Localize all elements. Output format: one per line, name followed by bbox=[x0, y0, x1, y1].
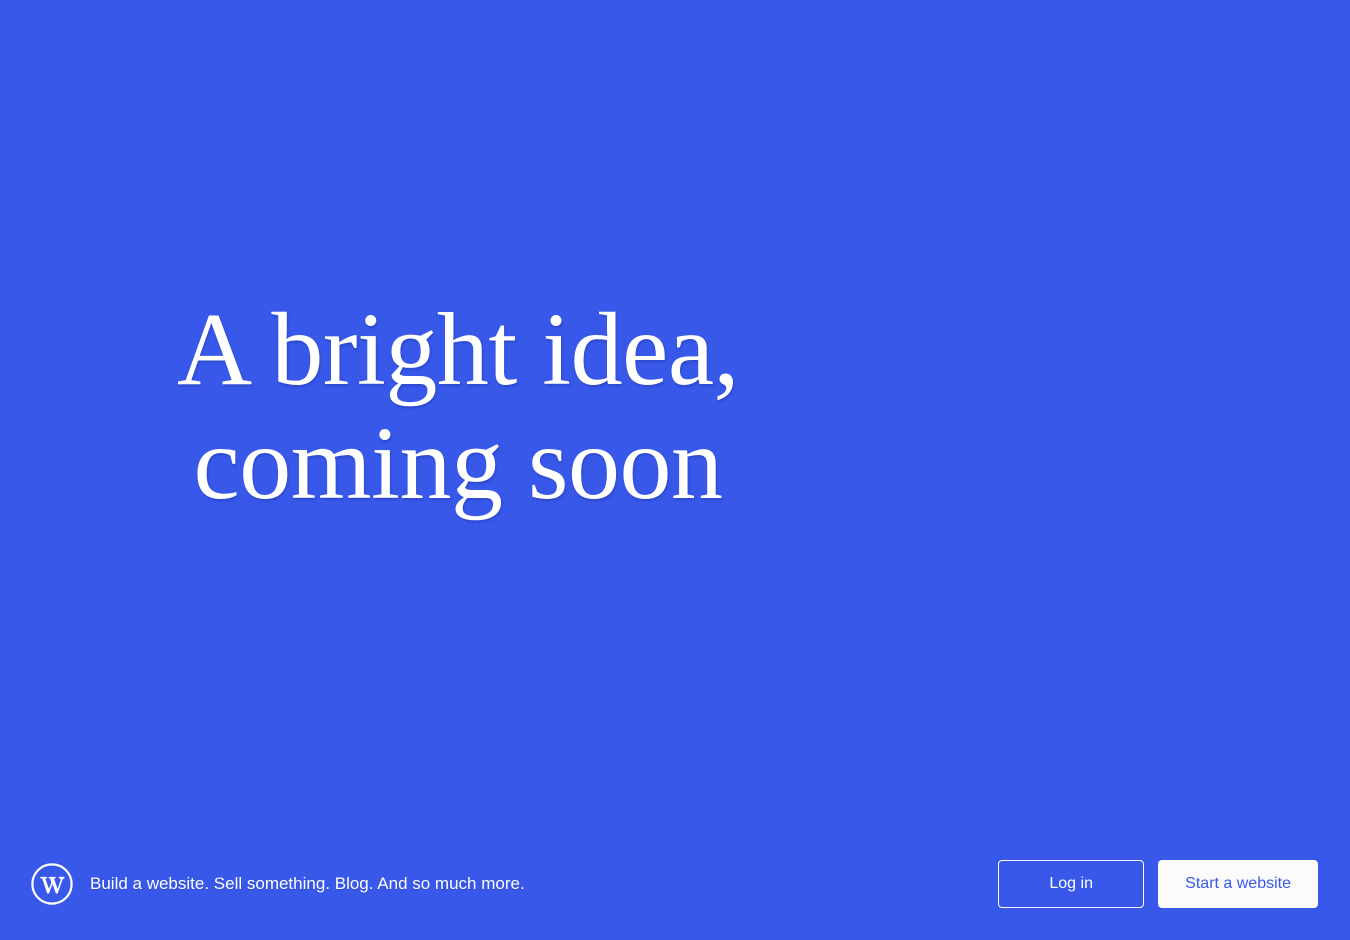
page-title: A bright idea, coming soon bbox=[177, 293, 739, 522]
hero-section: A bright idea, coming soon bbox=[0, 0, 900, 830]
footer-brand: Build a website. Sell something. Blog. A… bbox=[30, 862, 998, 906]
footer-tagline: Build a website. Sell something. Blog. A… bbox=[90, 873, 525, 895]
coming-soon-page: A bright idea, coming soon Build a websi… bbox=[0, 0, 1350, 940]
footer-actions: Log in Start a website bbox=[998, 860, 1318, 908]
login-button[interactable]: Log in bbox=[998, 860, 1144, 908]
start-website-button[interactable]: Start a website bbox=[1158, 860, 1318, 908]
wordpress-logo-icon bbox=[30, 862, 74, 906]
footer-bar: Build a website. Sell something. Blog. A… bbox=[0, 828, 1350, 940]
